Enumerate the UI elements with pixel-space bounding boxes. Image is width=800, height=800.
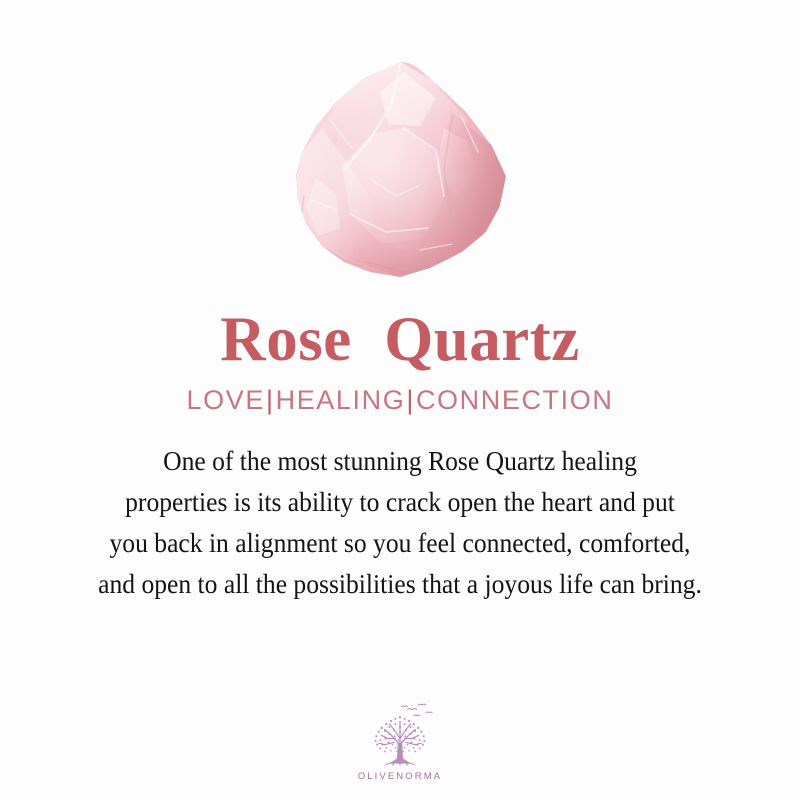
subtitle-item-healing: HEALING <box>276 387 406 414</box>
description-line: and open to all the possibilities that a… <box>47 563 754 604</box>
brand-logo: OLIVENORMA <box>0 699 800 782</box>
rose-quartz-crystal-image <box>0 0 800 300</box>
description-paragraph: One of the most stunning Rose Quartz hea… <box>47 422 754 604</box>
birds-icon <box>402 704 432 716</box>
subtitle-keywords: LOVE | HEALING | CONNECTION <box>187 378 614 422</box>
rose-quartz-info-card: Rose Quartz LOVE | HEALING | CONNECTION … <box>0 0 800 800</box>
brand-wordmark: OLIVENORMA <box>358 771 442 782</box>
hero-image-container <box>0 0 800 300</box>
description-line: One of the most stunning Rose Quartz hea… <box>47 440 754 481</box>
tree-of-life-icon <box>361 699 439 769</box>
subtitle-separator: | <box>265 387 276 414</box>
subtitle-item-connection: CONNECTION <box>416 387 614 414</box>
description-line: properties is its ability to crack open … <box>47 481 754 522</box>
subtitle-separator: | <box>405 387 416 414</box>
description-line: you back in alignment so you feel connec… <box>47 522 754 563</box>
page-title: Rose Quartz <box>220 300 579 378</box>
crystal-body <box>280 50 530 300</box>
subtitle-item-love: LOVE <box>187 387 265 414</box>
